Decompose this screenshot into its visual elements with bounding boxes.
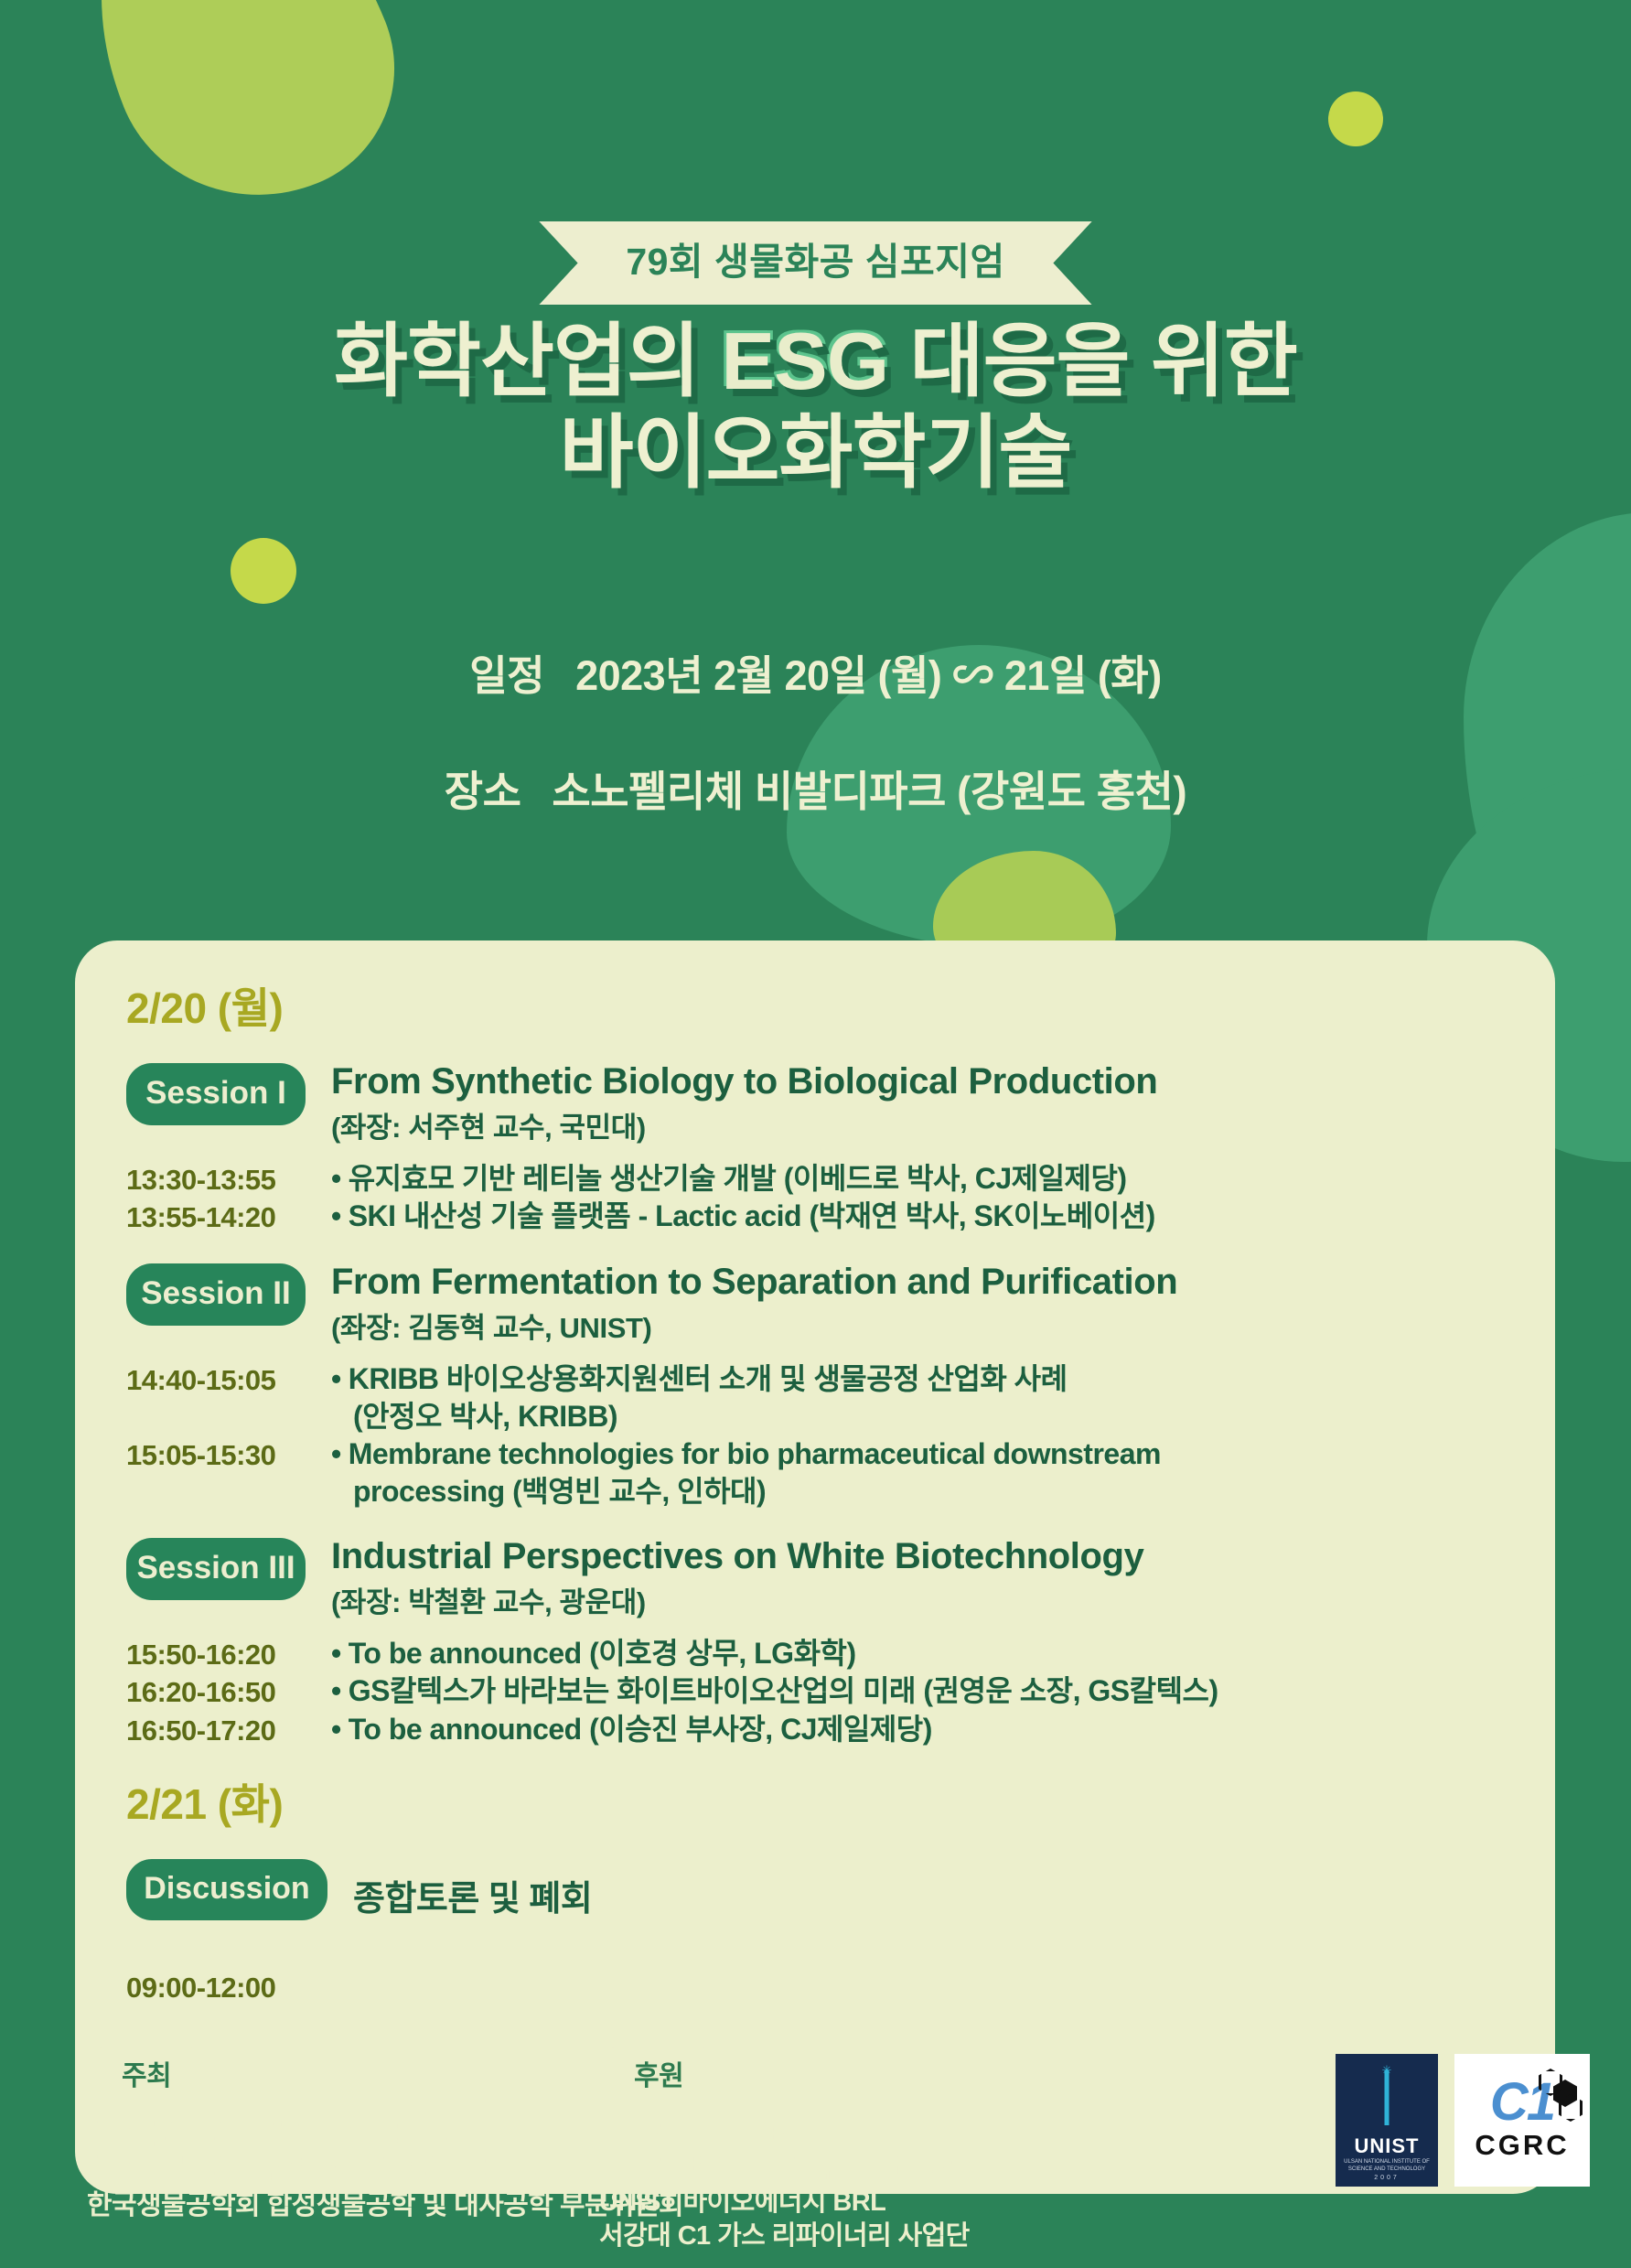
talk-list-2: 14:40-15:05 •KRIBB 바이오상용화지원센터 소개 및 생물공정 …: [126, 1360, 1504, 1510]
talk-row: 14:40-15:05 •KRIBB 바이오상용화지원센터 소개 및 생물공정 …: [126, 1360, 1504, 1435]
discussion-text: 종합토론 및 폐회: [353, 1855, 592, 1920]
sponsor-logos: ✳ UNIST ULSAN NATIONAL INSTITUTE OF SCIE…: [1336, 2054, 1590, 2187]
session-header-2: Session II From Fermentation to Separati…: [126, 1260, 1504, 1346]
bullet-icon: •: [331, 1637, 341, 1670]
session-title-1: From Synthetic Biology to Biological Pro…: [331, 1061, 1157, 1102]
talk-title: To be announced (이호경 상무, LG화학): [349, 1637, 856, 1670]
discussion-header: Discussion 종합토론 및 폐회: [126, 1855, 1504, 1920]
cgrc-wordmark: CGRC: [1475, 2129, 1569, 2162]
talk-time: 13:30-13:55: [126, 1160, 306, 1198]
talk-time: 16:50-17:20: [126, 1711, 306, 1749]
talk-text: •Membrane technologies for bio pharmaceu…: [331, 1435, 1161, 1510]
session-titles-3: Industrial Perspectives on White Biotech…: [331, 1534, 1143, 1620]
unist-year: 2007: [1374, 2175, 1400, 2181]
talk-time: 15:05-15:30: [126, 1435, 306, 1474]
talk-row: 16:20-16:50 •GS칼텍스가 바라보는 화이트바이오산업의 미래 (권…: [126, 1672, 1504, 1711]
session-pill-2: Session II: [126, 1263, 306, 1326]
bullet-icon: •: [331, 1162, 341, 1195]
decorative-dot-right: [1328, 91, 1383, 146]
session-block-1: Session I From Synthetic Biology to Biol…: [126, 1059, 1504, 1236]
discussion-time-row: 09:00-12:00: [126, 1968, 1504, 2006]
bullet-icon: •: [331, 1199, 341, 1232]
cgrc-logo: C1 CGRC: [1454, 2054, 1590, 2187]
host-item: 한국생물공학회 단백질/효소공학 부문위원회: [87, 2153, 683, 2187]
discussion-pill: Discussion: [126, 1859, 327, 1920]
session-block-2: Session II From Fermentation to Separati…: [126, 1260, 1504, 1510]
host-item: 한국생물공학회 합성생물공학 및 대사공학 부문위원회: [87, 2188, 683, 2223]
decorative-dot-left: [231, 538, 296, 604]
unist-logo: ✳ UNIST ULSAN NATIONAL INSTITUTE OF SCIE…: [1336, 2054, 1438, 2187]
talk-time: 13:55-14:20: [126, 1198, 306, 1236]
talk-time: 09:00-12:00: [126, 1968, 306, 2006]
venue-value: 소노펠리체 비발디파크 (강원도 홍천): [552, 768, 1186, 815]
talk-continuation: processing (백영빈 교수, 인하대): [331, 1473, 1161, 1510]
host-item: 한국화학공학회 생물화공부문위원회: [87, 2118, 683, 2153]
session-block-3: Session III Industrial Perspectives on W…: [126, 1534, 1504, 1749]
venue-label: 장소: [445, 768, 521, 815]
talk-text: •KRIBB 바이오상용화지원센터 소개 및 생물공정 산업화 사례 (안정오 …: [331, 1360, 1068, 1435]
bullet-icon: •: [331, 1362, 341, 1395]
talk-text: •GS칼텍스가 바라보는 화이트바이오산업의 미래 (권영운 소장, GS칼텍스…: [331, 1672, 1218, 1710]
unist-subtitle: ULSAN NATIONAL INSTITUTE OF SCIENCE AND …: [1336, 2159, 1438, 2173]
host-pill: 주최: [87, 2045, 206, 2103]
title-esg: ESG: [721, 316, 888, 406]
session-chair-3: (좌장: 박철환 교수, 광운대): [331, 1579, 1143, 1620]
sponsor-list: UNIST SMILE ERC UNIST 바이오화학 특성화사업단 UNIST…: [599, 2118, 970, 2253]
talk-list-1: 13:30-13:55 •유지효모 기반 레티놀 생산기술 개발 (이베드로 박…: [126, 1160, 1504, 1236]
date-label: 일정: [469, 652, 544, 699]
title-part-a: 화학산업의: [334, 316, 721, 406]
footer-sponsor-column: 후원 UNIST SMILE ERC UNIST 바이오화학 특성화사업단 UN…: [599, 2045, 970, 2253]
talk-title: 유지효모 기반 레티놀 생산기술 개발 (이베드로 박사, CJ제일제당): [349, 1162, 1127, 1195]
programme-card: 2/20 (월) Session I From Synthetic Biolog…: [75, 941, 1555, 2194]
ribbon-banner: 79회 생물화공 심포지엄: [0, 221, 1631, 305]
session-title-3: Industrial Perspectives on White Biotech…: [331, 1536, 1143, 1577]
talk-text: •To be announced (이승진 부사장, CJ제일제당): [331, 1711, 932, 1748]
talk-row: 13:55-14:20 •SKI 내산성 기술 플랫폼 - Lactic aci…: [126, 1198, 1504, 1236]
session-pill-3: Session III: [126, 1538, 306, 1600]
talk-time: 14:40-15:05: [126, 1360, 306, 1399]
event-date-row: 일정2023년 2월 20일 (월) ∽ 21일 (화): [0, 642, 1631, 702]
title-line-2: 바이오화학기술: [0, 407, 1631, 499]
session-header-3: Session III Industrial Perspectives on W…: [126, 1534, 1504, 1620]
talk-list-3: 15:50-16:20 •To be announced (이호경 상무, LG…: [126, 1635, 1504, 1749]
day2-label: 2/21 (화): [126, 1771, 1504, 1832]
talk-title: SKI 내산성 기술 플랫폼 - Lactic acid (박재연 박사, SK…: [349, 1199, 1155, 1232]
discussion-block: Discussion 종합토론 및 폐회 09:00-12:00: [126, 1855, 1504, 2006]
ribbon-label: 79회 생물화공 심포지엄: [539, 221, 1091, 305]
talk-time: 16:20-16:50: [126, 1672, 306, 1711]
sponsor-item: UNIST 바이오에너지 BRL: [599, 2186, 970, 2220]
unist-wordmark: UNIST: [1355, 2136, 1420, 2156]
session-title-2: From Fermentation to Separation and Puri…: [331, 1262, 1177, 1303]
talk-row: 16:50-17:20 •To be announced (이승진 부사장, C…: [126, 1711, 1504, 1749]
title-part-b: 대응을 위한: [888, 316, 1297, 406]
talk-time: 15:50-16:20: [126, 1635, 306, 1673]
session-pill-1: Session I: [126, 1063, 306, 1125]
talk-title: To be announced (이승진 부사장, CJ제일제당): [349, 1713, 932, 1746]
title-line-1: 화학산업의 ESG 대응을 위한: [0, 316, 1631, 407]
sponsor-item: 서강대 C1 가스 리파이너리 사업단: [599, 2220, 970, 2253]
session-titles-1: From Synthetic Biology to Biological Pro…: [331, 1059, 1157, 1145]
session-titles-2: From Fermentation to Separation and Puri…: [331, 1260, 1177, 1346]
talk-text: •유지효모 기반 레티놀 생산기술 개발 (이베드로 박사, CJ제일제당): [331, 1160, 1127, 1198]
talk-row: 09:00-12:00: [126, 1968, 1504, 2006]
talk-title: KRIBB 바이오상용화지원센터 소개 및 생물공정 산업화 사례: [349, 1362, 1068, 1395]
sponsor-pill: 후원: [599, 2045, 718, 2103]
talk-row: 15:50-16:20 •To be announced (이호경 상무, LG…: [126, 1635, 1504, 1673]
session-chair-2: (좌장: 김동혁 교수, UNIST): [331, 1305, 1177, 1346]
session-chair-1: (좌장: 서주현 교수, 국민대): [331, 1104, 1157, 1145]
talk-row: 15:05-15:30 •Membrane technologies for b…: [126, 1435, 1504, 1510]
decorative-blob-top-left: [44, 0, 432, 240]
bullet-icon: •: [331, 1713, 341, 1746]
event-venue-row: 장소소노펠리체 비발디파크 (강원도 홍천): [0, 758, 1631, 819]
talk-title: GS칼텍스가 바라보는 화이트바이오산업의 미래 (권영운 소장, GS칼텍스): [349, 1674, 1218, 1707]
talk-text: •To be announced (이호경 상무, LG화학): [331, 1635, 856, 1672]
talk-text: •SKI 내산성 기술 플랫폼 - Lactic acid (박재연 박사, S…: [331, 1198, 1155, 1235]
sponsor-item: UNIST 바이오화학 특성화사업단: [599, 2152, 970, 2186]
bullet-icon: •: [331, 1437, 341, 1470]
day1-label: 2/20 (월): [126, 975, 1504, 1036]
bullet-icon: •: [331, 1674, 341, 1707]
session-header-1: Session I From Synthetic Biology to Biol…: [126, 1059, 1504, 1145]
date-value: 2023년 2월 20일 (월) ∽ 21일 (화): [575, 652, 1162, 699]
talk-row: 13:30-13:55 •유지효모 기반 레티놀 생산기술 개발 (이베드로 박…: [126, 1160, 1504, 1198]
event-meta: 일정2023년 2월 20일 (월) ∽ 21일 (화) 장소소노펠리체 비발디…: [0, 642, 1631, 819]
page-title: 화학산업의 ESG 대응을 위한 바이오화학기술: [0, 316, 1631, 500]
talk-continuation: (안정오 박사, KRIBB): [331, 1398, 1068, 1435]
footer-host-column: 주최 한국화학공학회 생물화공부문위원회 한국생물공학회 단백질/효소공학 부문…: [87, 2045, 683, 2223]
talk-title: Membrane technologies for bio pharmaceut…: [349, 1437, 1161, 1470]
sponsor-item: UNIST SMILE ERC: [599, 2118, 970, 2152]
host-list: 한국화학공학회 생물화공부문위원회 한국생물공학회 단백질/효소공학 부문위원회…: [87, 2118, 683, 2223]
unist-logo-stem: [1385, 2070, 1390, 2125]
